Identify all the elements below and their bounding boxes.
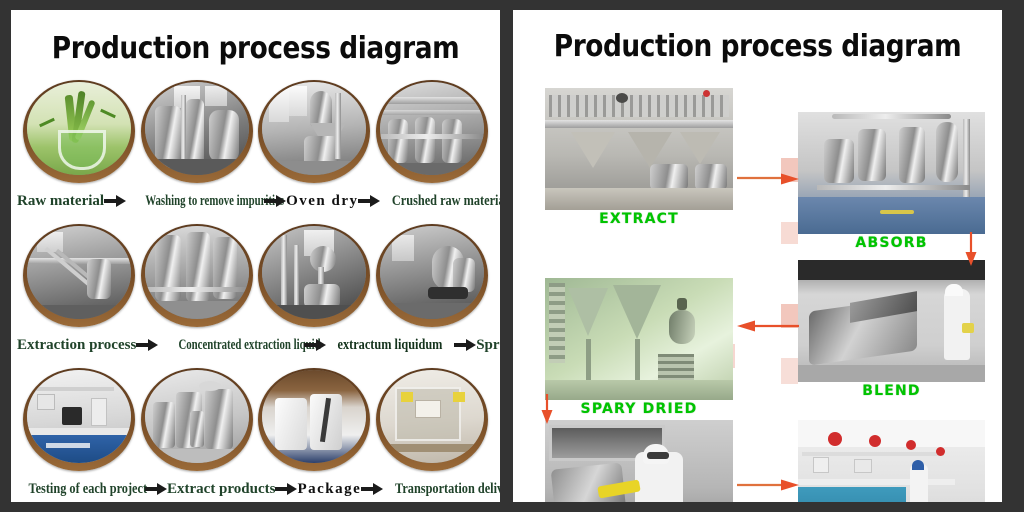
cell-caption: EXTRACT <box>545 212 733 226</box>
step-label: Washing to remove impurities <box>145 194 244 209</box>
arrow-right-icon <box>358 194 380 208</box>
step-thumb-testing[interactable] <box>23 368 135 471</box>
step-thumb-extract-products[interactable] <box>141 368 253 471</box>
concentration-tanks-photo <box>145 226 249 319</box>
process-cell-blend[interactable]: BLEND <box>798 260 985 400</box>
step-thumb-crushed[interactable] <box>376 80 488 183</box>
arrow-extract-to-absorb <box>737 172 799 190</box>
lab-testing-photo <box>27 370 131 463</box>
process-row-1-labels: Raw material Washing to remove impuritie… <box>11 186 500 216</box>
step-label: Crushed raw materials <box>392 194 500 209</box>
left-steps-grid: Raw material Washing to remove impuritie… <box>11 80 500 502</box>
process-cell-test[interactable]: TEST <box>798 420 985 502</box>
screenshot-root: Production process diagram <box>0 0 1024 512</box>
oven-dry-photo <box>262 82 366 175</box>
step-label: Raw material <box>17 194 104 209</box>
process-row-3: Testing of each project Extract products… <box>11 368 500 502</box>
step-label: extractum liquidum <box>338 338 443 353</box>
absorption-tanks-photo <box>798 112 985 234</box>
extractum-liquidum-photo <box>262 226 366 319</box>
extraction-tanks-photo <box>545 88 733 210</box>
pallet-shipping-photo <box>380 370 484 463</box>
step-label: Package <box>297 482 361 497</box>
step-thumb-extraction-process[interactable] <box>23 224 135 327</box>
packing-operator-photo <box>545 420 733 502</box>
arrow-right-icon <box>104 194 126 208</box>
washing-equipment-photo <box>145 82 249 175</box>
step-thumb-washing[interactable] <box>141 80 253 183</box>
right-panel-title: Production process diagram <box>542 32 972 62</box>
step-label: Testing of each project <box>29 482 134 497</box>
process-cell-spary-dried[interactable]: SPARY DRIED <box>545 278 733 418</box>
left-process-diagram-panel: Production process diagram <box>11 10 500 502</box>
process-cell-absorb[interactable]: ABSORB <box>798 112 985 252</box>
process-row-2: Extraction process Concentrated extracti… <box>11 224 500 368</box>
step-thumb-spray-drying[interactable] <box>376 224 488 327</box>
packaging-bags-photo <box>262 370 366 463</box>
arrow-right-icon <box>454 338 476 352</box>
step-thumb-transportation[interactable] <box>376 368 488 471</box>
step-thumb-oven-dry[interactable] <box>258 80 370 183</box>
process-cell-extract[interactable]: EXTRACT <box>545 88 733 228</box>
step-thumb-raw-material[interactable] <box>23 80 135 183</box>
step-label: Extraction process <box>17 338 136 353</box>
arrow-right-icon <box>275 482 297 496</box>
step-label: Transportation delivery <box>395 482 500 497</box>
step-label: Concentrated extraction liquid <box>179 338 284 353</box>
process-cell-pack[interactable]: PACK <box>545 420 733 502</box>
left-panel-title: Production process diagram <box>40 34 470 64</box>
spray-dryer-photo <box>380 226 484 319</box>
arrow-right-icon <box>304 338 326 352</box>
process-row-3-labels: Testing of each project Extract products… <box>11 474 500 502</box>
spray-drying-tower-photo <box>545 278 733 400</box>
blender-operator-photo <box>798 260 985 382</box>
arrow-spary-dried-to-pack <box>541 394 553 429</box>
right-process-diagram-panel: Production process diagram <box>513 10 1002 502</box>
cell-caption: BLEND <box>798 384 985 398</box>
arrow-absorb-to-blend <box>965 232 977 271</box>
step-label: Oven dry <box>286 194 358 209</box>
raw-material-photo <box>27 82 131 175</box>
arrow-right-icon <box>145 482 167 496</box>
arrow-right-icon <box>264 194 286 208</box>
arrow-right-icon <box>361 482 383 496</box>
lab-test-bench-photo <box>798 420 985 502</box>
extract-products-photo <box>145 370 249 463</box>
cell-caption: SPARY DRIED <box>545 402 733 416</box>
step-thumb-concentrated[interactable] <box>141 224 253 327</box>
cell-caption: ABSORB <box>798 236 985 250</box>
arrow-right-icon <box>136 338 158 352</box>
step-thumb-package[interactable] <box>258 368 370 471</box>
process-row-1: Raw material Washing to remove impuritie… <box>11 80 500 224</box>
step-label: Extract products <box>167 482 275 497</box>
process-row-2-labels: Extraction process Concentrated extracti… <box>11 330 500 360</box>
step-label: Spray drying <box>476 338 500 353</box>
arrow-blend-to-spary-dried <box>735 319 799 337</box>
extraction-plant-photo <box>27 226 131 319</box>
step-thumb-extractum[interactable] <box>258 224 370 327</box>
right-photo-grid: EXTRACT ABSOR <box>513 72 1002 482</box>
crushing-line-photo <box>380 82 484 175</box>
arrow-pack-to-test <box>737 478 799 496</box>
